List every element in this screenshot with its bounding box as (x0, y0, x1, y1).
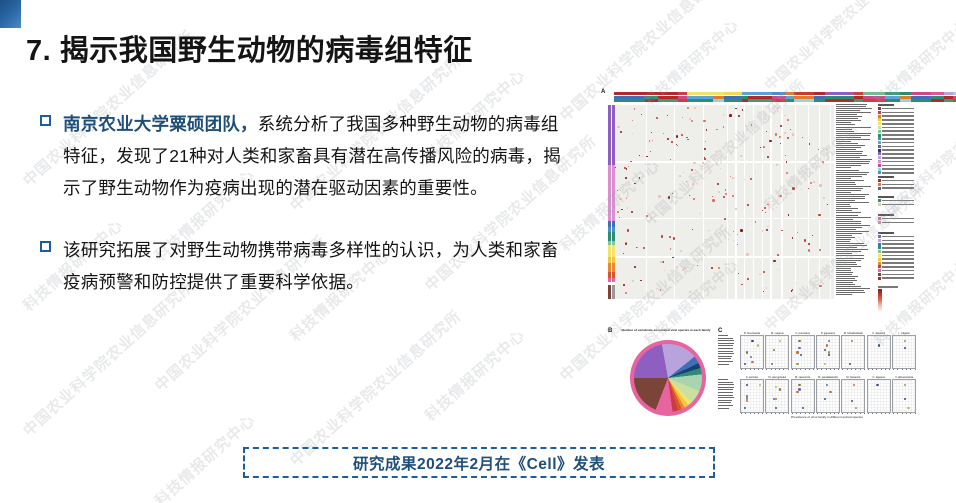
panel-a-band-row (614, 96, 834, 99)
panel-a-cell-dot (754, 204, 755, 205)
panel-a-cell-dot (766, 229, 768, 231)
legend-swatch (878, 183, 881, 186)
panel-c-y-label (718, 408, 729, 409)
panel-c-data-point (746, 400, 748, 402)
panel-c-data-point (826, 384, 828, 386)
panel-c-data-point (796, 363, 798, 365)
panel-a-legend-species (878, 104, 914, 175)
panel-a-row-label (836, 172, 869, 173)
panel-a-band-segment (863, 99, 885, 102)
panel-a-cell-dot (632, 133, 633, 134)
panel-a-row-label (836, 165, 861, 166)
panel-a-band-segment (786, 92, 795, 95)
panel-a-cell-dot (704, 148, 706, 150)
panel-a-row-label (836, 215, 858, 216)
legend-label (882, 187, 914, 189)
panel-a-cell-dot (712, 196, 713, 197)
panel-a-cell-dot (748, 108, 749, 109)
panel-a-cell-dot (753, 117, 754, 118)
panel-c-x-ticks (740, 369, 764, 371)
panel-c-data-point (750, 356, 752, 358)
legend-item (878, 149, 914, 152)
legend-label (882, 180, 914, 182)
legend-swatch (878, 134, 881, 137)
panel-a-cell-dot (764, 175, 766, 177)
panel-a-band-segment (687, 92, 713, 95)
panel-a-cell-dot (697, 265, 698, 266)
panel-a-row-label (836, 145, 865, 146)
panel-a-cell-dot (761, 285, 762, 286)
legend-swatch (878, 130, 881, 133)
panel-a-cell-dot (627, 229, 629, 231)
legend-label (882, 274, 914, 276)
panel-a-row-label (836, 137, 861, 138)
panel-c-ylabels-row2 (718, 379, 739, 410)
panel-a-cell-dot (755, 171, 756, 172)
legend-item (878, 239, 914, 242)
panel-c-x-ticks (791, 369, 815, 371)
panel-a-cell-dot (738, 273, 739, 274)
panel-a-cell-dot (777, 269, 779, 271)
panel-a-row-label (836, 202, 869, 203)
panel-a-cell-dot (787, 119, 789, 121)
panel-a-cell-dot (787, 137, 789, 139)
legend-label (882, 204, 914, 206)
panel-a-band-segment (786, 99, 795, 102)
panel-a-cell-dot (661, 235, 663, 237)
panel-a-cell-dot (687, 182, 689, 184)
panel-a-band-segment (748, 92, 772, 95)
panel-a-legend-tissue (878, 214, 914, 225)
panel-a-cell-dot (724, 218, 726, 220)
panel-a-row-label (836, 196, 865, 197)
legend-item (878, 265, 914, 268)
legend-item (878, 133, 914, 136)
legend-item (878, 250, 914, 253)
panel-a-row-label (836, 174, 867, 175)
panel-a-matrix (615, 105, 834, 299)
panel-a-cell-dot (634, 108, 636, 110)
panel-c-y-label (718, 389, 733, 390)
panel-c-plot (765, 335, 789, 369)
legend-swatch (878, 203, 881, 206)
panel-a-row-label (836, 231, 869, 232)
panel-a-row-label (836, 118, 858, 119)
panel-a-band-segment (900, 92, 911, 95)
panel-a-column-separator (753, 105, 754, 299)
panel-a-cell-dot (639, 155, 640, 156)
panel-c-cell: M. brhadeshwari (841, 332, 865, 371)
panel-b-letter: B (608, 328, 612, 334)
panel-a-column-separator (830, 105, 831, 299)
panel-a-band-segment (931, 99, 944, 102)
panel-a-row-label (836, 243, 864, 244)
panel-a-cell-dot (810, 182, 812, 184)
panel-a-cell-dot (693, 198, 695, 200)
panel-a-band-segment (687, 99, 713, 102)
panel-c-data-point (751, 361, 753, 363)
panel-a-band-segment (742, 99, 749, 102)
panel-c-row: F. sericataM. pterygotelesM. caenensisM.… (740, 376, 916, 415)
panel-c-data-point (796, 351, 798, 353)
panel-a-row-label (836, 268, 851, 269)
panel-c-data-point (904, 398, 906, 400)
panel-a-band-segment (931, 92, 944, 95)
panel-a-cell-dot (819, 249, 820, 250)
panel-a-row-label (836, 182, 855, 183)
panel-a-cell-dot (827, 204, 828, 205)
panel-a-cell-dot (668, 282, 670, 284)
panel-a-cell-dot (639, 177, 640, 178)
panel-a-cell-dot (724, 123, 726, 125)
panel-c-data-point (746, 351, 748, 353)
panel-a-band-segment (863, 96, 885, 99)
panel-a-cell-dot (809, 143, 810, 144)
panel-c-y-label (718, 387, 734, 388)
legend-item (878, 235, 914, 238)
panel-a-row-label (836, 129, 852, 130)
panel-a-band-segment (863, 92, 885, 95)
panel-c-cell: M. pandalaetodis (816, 376, 840, 415)
panel-a-row-label (836, 135, 870, 136)
panel-c-letter: C (718, 328, 722, 334)
panel-a-band-segment (825, 96, 854, 99)
panel-a-row-label (836, 270, 851, 271)
legend-item (878, 277, 914, 280)
panel-a-cell-dot (681, 134, 683, 136)
panel-a-letter: A (601, 89, 605, 95)
panel-a-band-segment (658, 96, 678, 99)
panel-a-cell-dot (762, 210, 763, 211)
panel-a-cell-dot (801, 292, 803, 294)
panel-a-cell-dot (749, 227, 751, 229)
panel-a-row-label (836, 147, 861, 148)
list-item: 南京农业大学粟硕团队，系统分析了我国多种野生动物的病毒组特征，发现了21种对人类… (40, 108, 570, 204)
panel-c-y-label (718, 382, 733, 383)
panel-a-cell-dot (718, 191, 720, 193)
legend-label (882, 153, 914, 155)
panel-c-data-point (907, 407, 909, 409)
panel-a-cell-dot (623, 284, 625, 286)
legend-swatch (878, 152, 881, 155)
panel-a-cell-dot (746, 253, 748, 255)
panel-a-cell-dot (682, 117, 683, 118)
panel-a-cell-dot (735, 108, 736, 109)
panel-a-row-label (836, 170, 859, 171)
legend-label (882, 168, 914, 170)
panel-a-cell-dot (747, 278, 749, 280)
panel-a-cell-dot (750, 178, 752, 180)
panel-c-data-point (829, 391, 831, 393)
panel-b-title: Number of vertebrate-associated viral sp… (618, 328, 714, 332)
panel-c-data-point (878, 344, 880, 346)
panel-a-row-separator (615, 256, 834, 257)
panel-a-row-label (836, 272, 853, 273)
panel-c-data-point (779, 388, 781, 390)
panel-c-data-point (798, 340, 800, 342)
panel-a-cell-dot (691, 120, 693, 122)
list-item: 该研究拓展了对野生动物携带病毒多样性的认识，为人类和家畜疫病预警和防控提供了重要… (40, 234, 570, 298)
panel-a-cell-dot (703, 120, 705, 122)
panel-a-row-label (836, 190, 861, 191)
panel-a-cell-dot (764, 207, 766, 209)
legend-label (882, 266, 914, 268)
panel-a-cell-dot (650, 151, 652, 153)
panel-a-cell-dot (671, 141, 673, 143)
panel-a-cell-dot (668, 196, 670, 198)
panel-c-plot (765, 379, 789, 413)
panel-a-cell-dot (819, 184, 822, 187)
panel-a-row-label (836, 255, 864, 256)
panel-a-cell-dot (751, 124, 752, 125)
panel-a-cell-dot (670, 248, 672, 250)
panel-a-cell-dot (720, 168, 721, 169)
panel-c-y-label (718, 361, 733, 362)
panel-a-cell-dot (760, 147, 761, 148)
legend-label (882, 236, 914, 238)
panel-a-cell-dot (664, 270, 665, 271)
panel-a-row-label (836, 110, 860, 111)
legend-swatch (878, 179, 881, 182)
panel-a-legend-abundance (878, 286, 914, 311)
panel-c-data-point (779, 340, 781, 342)
legend-swatch (878, 171, 881, 174)
panel-a-cell-dot (775, 230, 777, 232)
legend-label (882, 108, 914, 110)
panel-a-cell-dot (766, 105, 768, 107)
panel-a-row-label (836, 184, 856, 185)
legend-title (878, 176, 894, 178)
legend-swatch (878, 217, 881, 220)
panel-a-row-label (836, 251, 861, 252)
panel-a-row-label (836, 241, 850, 242)
legend-title (878, 232, 894, 234)
panel-a-cell-dot (784, 115, 785, 116)
panel-a-cell-dot (725, 147, 728, 150)
panel-a-row-label (836, 124, 855, 125)
panel-a-cell-dot (783, 141, 785, 143)
panel-a-cell-dot (776, 207, 778, 209)
panel-a-category-bands (614, 92, 834, 103)
watermark-text: 中国农业科学院农业信息研究所 (760, 0, 929, 95)
panel-c-y-label (718, 348, 733, 349)
panel-a-row-label (836, 212, 861, 213)
panel-a-row-label (836, 264, 857, 265)
panel-a-band-segment (645, 99, 658, 102)
panel-a-row-label (836, 155, 867, 156)
legend-item (878, 115, 914, 118)
bullet-text: 该研究拓展了对野生动物携带病毒多样性的认识，为人类和家畜疫病预警和防控提供了重要… (63, 234, 570, 298)
legend-label (882, 165, 914, 167)
panel-a-band-segment (772, 92, 785, 95)
panel-a-cell-dot (816, 292, 817, 293)
panel-a-row-label (836, 208, 858, 209)
legend-item (878, 164, 914, 167)
panel-a-row-label (836, 229, 856, 230)
panel-a-band-segment (748, 99, 772, 102)
legend-label (882, 142, 914, 144)
legend-item (878, 118, 914, 121)
panel-c-x-ticks (867, 369, 891, 371)
legend-item (878, 122, 914, 125)
panel-a-column-separator (819, 105, 820, 299)
panel-a-row-label (836, 178, 851, 179)
panel-a-band-segment (724, 99, 742, 102)
panel-a-band-segment (786, 96, 795, 99)
panel-a-legend-health (878, 196, 914, 207)
panel-a-cell-dot (635, 121, 636, 122)
panel-a-cell-dot (797, 232, 798, 233)
panel-a-row-label (836, 274, 852, 275)
legend-item (878, 187, 914, 190)
panel-a-cell-dot (706, 129, 707, 130)
panel-a-cell-dot (723, 114, 725, 116)
panel-a-cell-dot (676, 266, 678, 268)
panel-a-cell-dot (763, 271, 765, 273)
panel-a-cell-dot (617, 211, 620, 214)
panel-c-y-label (718, 353, 734, 354)
panel-a-row-label (836, 245, 867, 246)
panel-a-cell-dot (705, 182, 707, 184)
legend-item (878, 111, 914, 114)
panel-c-data-point (775, 398, 777, 400)
legend-swatch (878, 262, 881, 265)
panel-a-cell-dot (672, 193, 673, 194)
panel-a-cell-dot (755, 221, 757, 223)
panel-a-cell-dot (691, 169, 694, 172)
panel-c-cell: V. altmeracteria (892, 376, 916, 415)
panel-a-cell-dot (792, 133, 794, 135)
panel-a-cell-dot (689, 118, 691, 120)
pie-slices (634, 344, 702, 412)
panel-a-cell-dot (682, 269, 684, 271)
panel-a-row-label (836, 149, 856, 150)
panel-a-cell-dot (763, 146, 765, 148)
panel-c-data-point (796, 391, 798, 393)
panel-a-cell-dot (737, 234, 738, 235)
panel-a-band-segment (772, 96, 785, 99)
panel-a-cell-dot (792, 289, 794, 291)
panel-c-data-point (744, 407, 746, 409)
panel-a-cell-dot (801, 287, 802, 288)
panel-a-cell-dot (672, 257, 673, 258)
panel-a-cell-dot (642, 156, 643, 157)
panel-c-cell: R. brevicauda (740, 332, 764, 371)
panel-b-pie: B Number of vertebrate-associated viral … (608, 326, 720, 424)
legend-label (882, 172, 914, 174)
panel-c-data-point (771, 363, 773, 365)
legend-label (882, 270, 914, 272)
panel-a-band-row (614, 99, 834, 102)
panel-a-row-label (836, 288, 870, 289)
legend-label (882, 146, 914, 148)
legend-label (882, 149, 914, 151)
panel-a-cell-dot (704, 244, 706, 246)
panel-c-x-ticks (892, 369, 916, 371)
panel-c-cell: M. magnus (765, 332, 789, 371)
panel-a-cell-dot (712, 199, 715, 202)
legend-swatch (878, 246, 881, 249)
panel-a-row-label (836, 253, 852, 254)
panel-c-plot (816, 379, 840, 413)
panel-a-row-label (836, 188, 863, 189)
panel-a-row-label (836, 143, 858, 144)
panel-c-plot (740, 335, 764, 369)
legend-swatch (878, 115, 881, 118)
panel-c-y-label (718, 395, 733, 396)
panel-a-band-segment (944, 99, 953, 102)
panel-c-y-label (718, 340, 734, 341)
panel-a-cell-dot (643, 209, 645, 211)
panel-a-row-label (836, 266, 861, 267)
legend-label (882, 243, 914, 245)
panel-a-band-segment (814, 99, 825, 102)
panel-a-cell-dot (704, 158, 706, 160)
panel-a-cell-dot (818, 214, 820, 216)
panel-a-band-segment (885, 96, 900, 99)
panel-a-cell-dot (735, 208, 738, 211)
panel-a-cell-dot (783, 273, 784, 274)
panel-a-cell-dot (652, 140, 653, 141)
legend-label (882, 115, 914, 117)
panel-c-y-label (718, 358, 731, 359)
legend-item (878, 261, 914, 264)
legend-item (878, 107, 914, 110)
panel-c-data-point (746, 384, 748, 386)
legend-item (878, 203, 914, 206)
legend-label (882, 161, 914, 163)
legend-swatch (878, 126, 881, 129)
panel-a-cell-dot (759, 107, 760, 108)
legend-swatch (878, 137, 881, 140)
panel-c-cell: M. pterygoteles (765, 376, 789, 415)
panel-a-cell-dot (694, 107, 696, 109)
panel-a-cell-dot (626, 198, 627, 199)
panel-c-data-point (798, 388, 800, 390)
panel-c-y-label (718, 397, 734, 398)
status-banner: 研究成果2022年2月在《Cell》发表 (243, 447, 715, 478)
panel-a-cell-dot (732, 177, 734, 179)
panel-a-cell-dot (799, 201, 801, 203)
panel-a-cell-dot (773, 260, 776, 263)
panel-c-data-point (828, 340, 830, 342)
panel-c-plot (816, 335, 840, 369)
slide-root: 7. 揭示我国野生动物的病毒组特征 南京农业大学粟硕团队，系统分析了我国多种野生… (0, 0, 956, 503)
panel-a-cell-dot (716, 163, 718, 165)
panel-a-row-label (836, 227, 862, 228)
panel-c-x-ticks (765, 369, 789, 371)
panel-a-cell-dot (627, 211, 628, 212)
panel-a-cell-dot (689, 291, 691, 293)
panel-a-cell-dot (766, 131, 767, 132)
legend-item (878, 269, 914, 272)
panel-c-y-label (718, 335, 728, 336)
panel-a-row-label (836, 157, 860, 158)
panel-c-cell: I. vulgaris (892, 332, 916, 371)
legend-title (878, 104, 894, 106)
panel-a-cell-dot (650, 110, 652, 112)
legend-swatch (878, 107, 881, 110)
panel-a-cell-dot (683, 172, 684, 173)
panel-a-band-segment (911, 92, 931, 95)
panel-c-data-point (904, 340, 906, 342)
corner-accent-bar (0, 0, 21, 28)
legend-swatch (878, 277, 881, 280)
legend-swatch (878, 149, 881, 152)
banner-text: 研究成果2022年2月在《Cell》发表 (353, 452, 605, 474)
panel-a-band-segment (614, 99, 645, 102)
panel-a-row-separator (615, 161, 834, 162)
